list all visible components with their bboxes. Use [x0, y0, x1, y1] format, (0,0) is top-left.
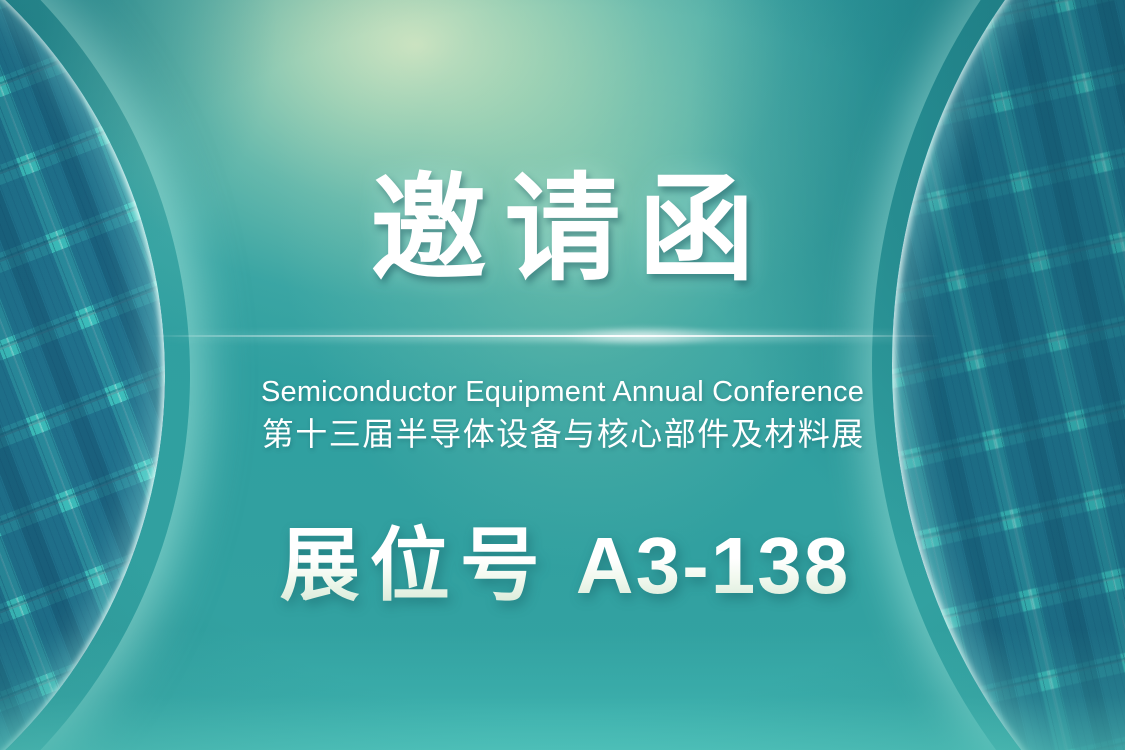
booth-number-value: A3-138 — [576, 521, 850, 610]
conference-name-chinese: 第十三届半导体设备与核心部件及材料展 — [0, 414, 1125, 454]
conference-name-english: Semiconductor Equipment Annual Conferenc… — [0, 375, 1125, 410]
banner-content: 邀请函 Semiconductor Equipment Annual Confe… — [0, 0, 1125, 750]
booth-number-line: 展位号A3-138 — [0, 519, 1125, 613]
invitation-banner: 邀请函 Semiconductor Equipment Annual Confe… — [0, 0, 1125, 750]
banner-title: 邀请函 — [0, 171, 1125, 287]
booth-number-label: 展位号 — [280, 521, 550, 610]
